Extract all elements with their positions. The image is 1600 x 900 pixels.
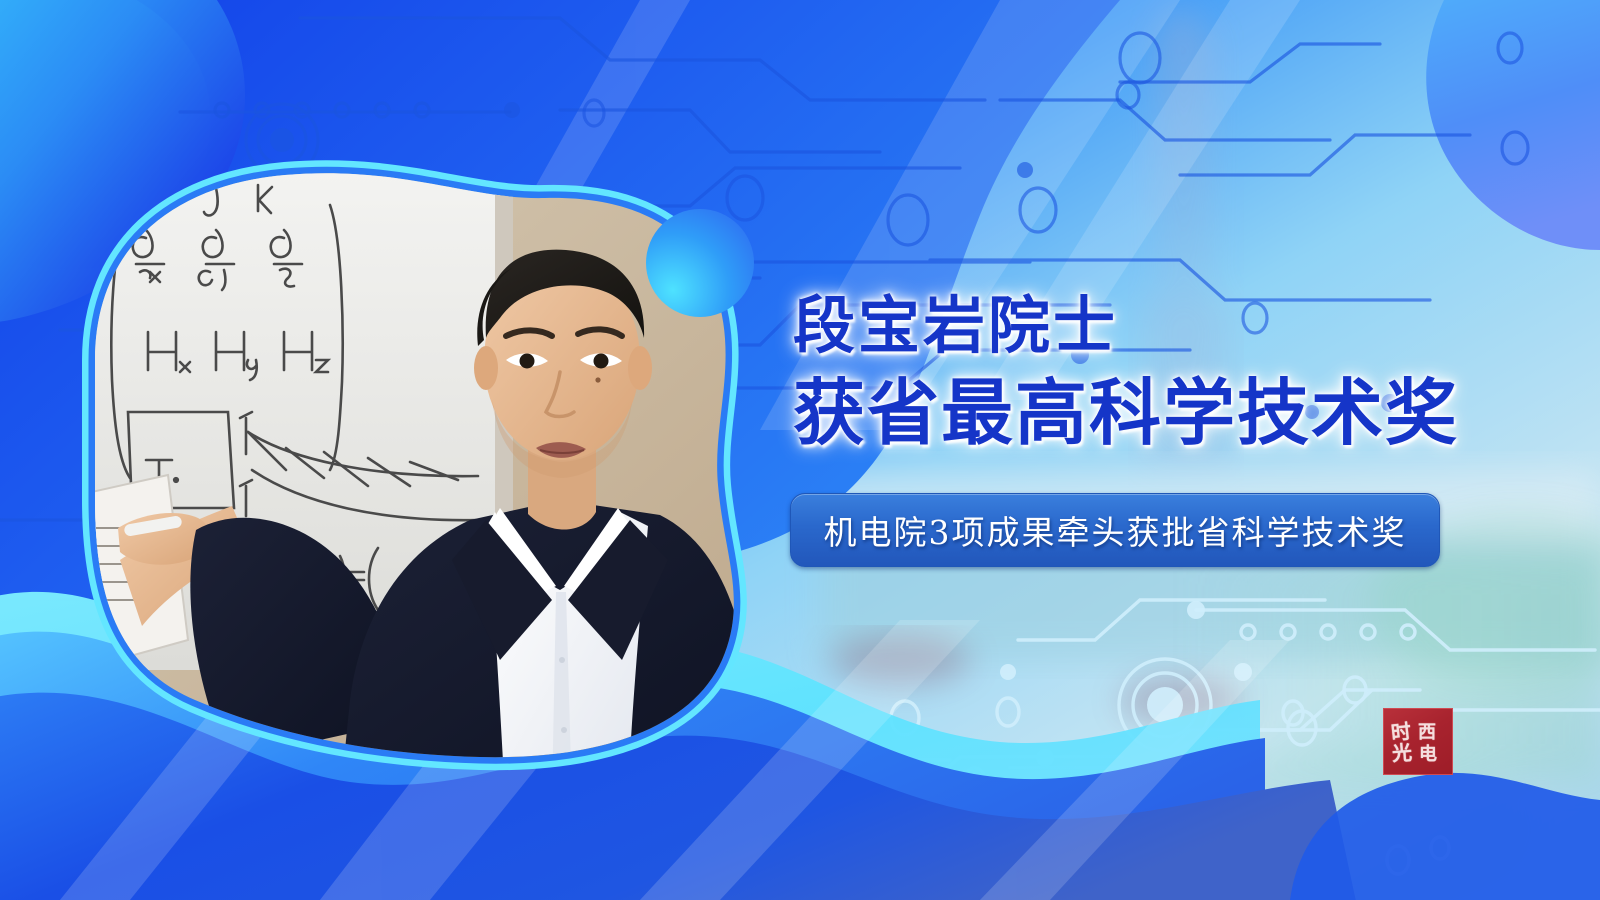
decor-gradient-ball [646,209,754,317]
subtitle-banner-text: 机电院3项成果牵头获批省科学技术奖 [824,506,1407,554]
seal-char-3: 西 [1418,724,1436,742]
seal-inner: 时 光 西 电 [1388,713,1448,770]
poster-root: 段宝岩院士 获省最高科学技术奖 机电院3项成果牵头获批省科学技术奖 时 光 西 … [0,0,1600,900]
seal-stamp-logo: 时 光 西 电 [1383,708,1453,775]
seal-char-4: 电 [1419,746,1437,764]
gradient-ball-layer [0,0,1600,900]
subtitle-banner: 机电院3项成果牵头获批省科学技术奖 [790,493,1440,567]
seal-char-2: 光 [1391,742,1412,763]
